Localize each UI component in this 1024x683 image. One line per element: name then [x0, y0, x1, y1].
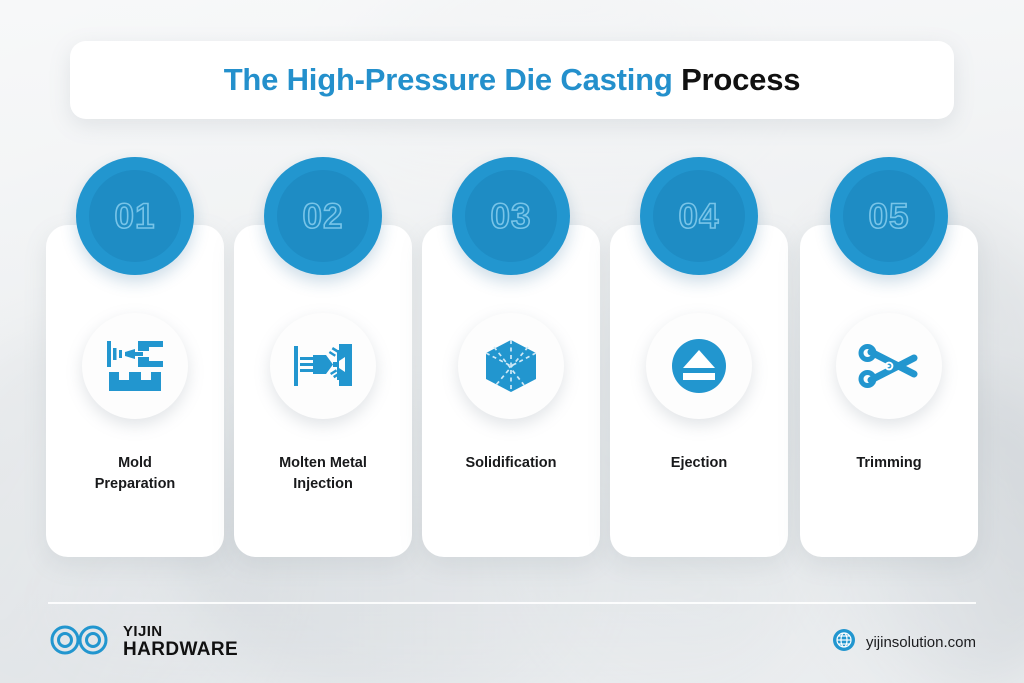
step-icon-disc: [82, 313, 188, 419]
step-number-label: 05: [869, 199, 910, 234]
page-title-accent: The High-Pressure Die Casting: [224, 62, 673, 97]
globe-icon: [832, 628, 856, 657]
step-number-label: 04: [679, 199, 720, 234]
footer-divider: [48, 602, 976, 604]
step-label: Molten Metal Injection: [238, 453, 408, 495]
step-label-line2: Preparation: [50, 474, 220, 495]
footer: YIJIN HARDWARE yijinsolution.com: [48, 612, 976, 672]
website-link[interactable]: yijinsolution.com: [832, 628, 976, 657]
step-number-inner-circle: 04: [653, 170, 745, 262]
process-step[interactable]: 02: [234, 157, 412, 557]
brand-logo[interactable]: YIJIN HARDWARE: [48, 623, 238, 662]
step-label: Mold Preparation: [50, 453, 220, 495]
step-label-line1: Ejection: [614, 453, 784, 474]
page-title: The High-Pressure Die Casting Process: [224, 62, 801, 98]
step-number-label: 03: [491, 199, 532, 234]
scissors-icon: [858, 340, 920, 392]
step-label-line1: Solidification: [426, 453, 596, 474]
website-text: yijinsolution.com: [866, 634, 976, 651]
step-number-badge: 04: [640, 157, 758, 275]
brand-line1: YIJIN: [123, 624, 238, 640]
step-label-line1: Mold: [50, 453, 220, 474]
process-step[interactable]: 04 Ejection: [610, 157, 788, 557]
brand-line2: HARDWARE: [123, 640, 238, 661]
mold-die-icon: [105, 340, 165, 392]
step-number-label: 01: [115, 199, 156, 234]
step-number-inner-circle: 01: [89, 170, 181, 262]
step-icon-disc: [270, 313, 376, 419]
step-number-inner-circle: 03: [465, 170, 557, 262]
yijin-infinity-logo-icon: [48, 623, 112, 662]
step-number-inner-circle: 02: [277, 170, 369, 262]
step-label-line1: Trimming: [804, 453, 974, 474]
step-number-label: 02: [303, 199, 344, 234]
step-number-badge: 05: [830, 157, 948, 275]
brand-name: YIJIN HARDWARE: [123, 624, 238, 661]
page-title-plain: Process: [673, 62, 801, 97]
step-label-line2: Injection: [238, 474, 408, 495]
step-icon-disc: [836, 313, 942, 419]
step-number-badge: 02: [264, 157, 382, 275]
eject-icon: [670, 337, 728, 395]
infographic-canvas: The High-Pressure Die Casting Process 01: [0, 0, 1024, 683]
process-step[interactable]: 03 Solidificatio: [422, 157, 600, 557]
process-step[interactable]: 01 Mold: [46, 157, 224, 557]
step-label: Trimming: [804, 453, 974, 474]
metal-injection-icon: [293, 338, 353, 394]
solid-cube-icon: [482, 337, 540, 395]
step-icon-disc: [646, 313, 752, 419]
step-icon-disc: [458, 313, 564, 419]
process-step[interactable]: 05 Trimming: [800, 157, 978, 557]
step-label-line1: Molten Metal: [238, 453, 408, 474]
step-label: Ejection: [614, 453, 784, 474]
title-card: The High-Pressure Die Casting Process: [70, 41, 954, 119]
process-steps: 01 Mold: [46, 157, 978, 557]
step-number-badge: 03: [452, 157, 570, 275]
step-number-badge: 01: [76, 157, 194, 275]
step-label: Solidification: [426, 453, 596, 474]
step-number-inner-circle: 05: [843, 170, 935, 262]
